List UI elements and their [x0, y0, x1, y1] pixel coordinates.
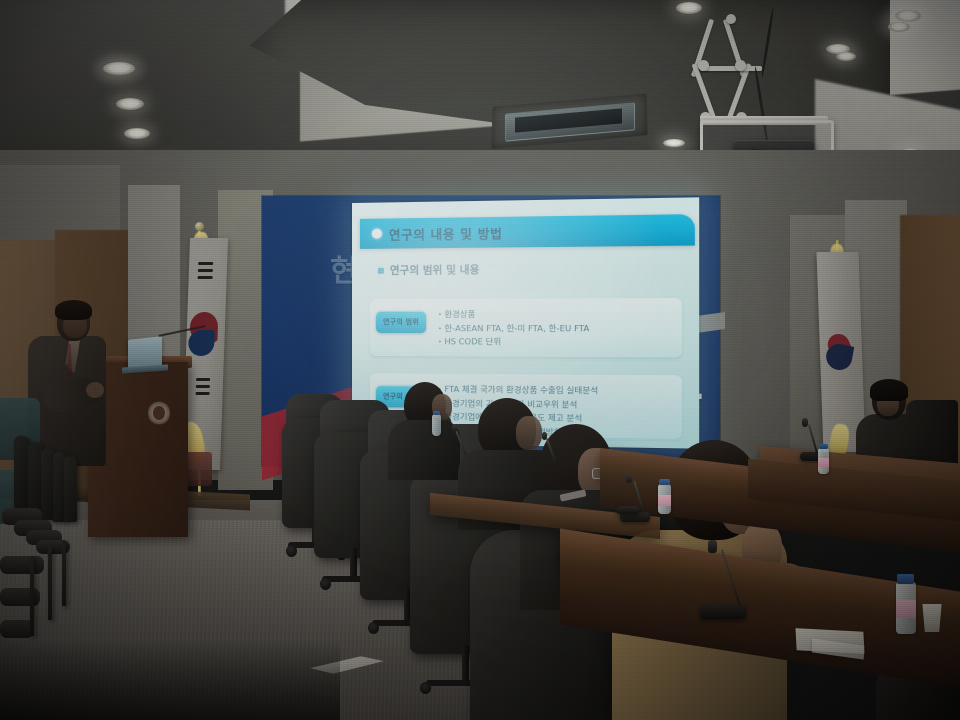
bottle-cap: [897, 574, 914, 584]
slide-line: 환경상품: [438, 307, 673, 321]
stacked-chair-seat: [0, 620, 34, 638]
flag-stand-left: [186, 452, 212, 486]
square-bullet-icon: [378, 267, 384, 273]
projector-mount-crossbar: [700, 66, 762, 71]
trigram-mark: [198, 262, 213, 265]
podium-emblem-inner: [153, 406, 165, 420]
bottle-cap: [433, 411, 440, 415]
presenter-hand: [86, 382, 104, 398]
slide-chip-scope: 연구의 범위: [376, 311, 426, 333]
bottle-cap: [819, 444, 828, 449]
trigram-mark: [196, 392, 210, 395]
chair-caster-icon: [320, 578, 331, 590]
downlight-glow: [870, 0, 940, 44]
bottle-cap: [659, 479, 670, 485]
attendee-body: [388, 420, 460, 480]
downlight-icon: [116, 98, 144, 110]
floor-shadow: [0, 640, 340, 720]
flagpole-finial-left: [195, 222, 204, 231]
microphone-head-icon: [708, 540, 717, 553]
projector-mount-hinge: [735, 60, 746, 71]
trigram-mark: [198, 276, 213, 279]
chair-caster-icon: [286, 545, 297, 557]
stacked-chair-leg: [48, 546, 52, 620]
downlight-glow: [88, 50, 150, 88]
stacked-chair: [64, 456, 77, 522]
trigram-mark: [196, 378, 210, 381]
stacked-chair-seat: [0, 588, 40, 606]
downlight-icon: [676, 2, 702, 14]
stacked-chair-leg: [30, 556, 34, 636]
bullet-circle-icon: [372, 229, 382, 239]
downlight-icon: [663, 139, 685, 147]
taeguk-blue-half: [188, 330, 215, 356]
microphone-head-icon: [802, 418, 808, 427]
projector-mount-hinge: [698, 60, 709, 71]
korean-government-flag: [817, 252, 866, 452]
slide-subtitle-row: 연구의 범위 및 내용: [378, 262, 480, 278]
chair-caster-icon: [420, 682, 431, 694]
slide-subtitle: 연구의 범위 및 내용: [390, 262, 480, 278]
trigram-mark: [196, 385, 210, 388]
attendee-face: [516, 416, 542, 450]
presenter-hair: [55, 300, 92, 320]
bottle-label: [818, 458, 829, 467]
microphone-head-icon: [542, 432, 547, 440]
conference-room-photo: 현 다. 연구의 내용 및 방법 연구의 범위 및 내용 연구의 범위 환경상품…: [0, 0, 960, 720]
slide-title-bar: 연구의 내용 및 방법: [360, 214, 695, 249]
bottle-label: [658, 495, 671, 506]
projector-mount-hinge: [726, 14, 736, 24]
stacked-chair-seat: [0, 556, 44, 574]
trigram-mark: [198, 269, 213, 272]
microphone-base: [616, 506, 640, 514]
stacked-chair-leg: [62, 540, 66, 606]
downlight-icon: [124, 128, 150, 139]
chair-caster-icon: [368, 622, 379, 634]
downlight-icon: [836, 52, 856, 61]
microphone-head-icon: [626, 474, 632, 483]
panelist-hair: [870, 379, 908, 401]
water-bottle: [432, 414, 441, 436]
bottle-label: [896, 600, 916, 618]
microphone-head-icon: [452, 424, 457, 432]
slide-title: 연구의 내용 및 방법: [389, 222, 503, 243]
